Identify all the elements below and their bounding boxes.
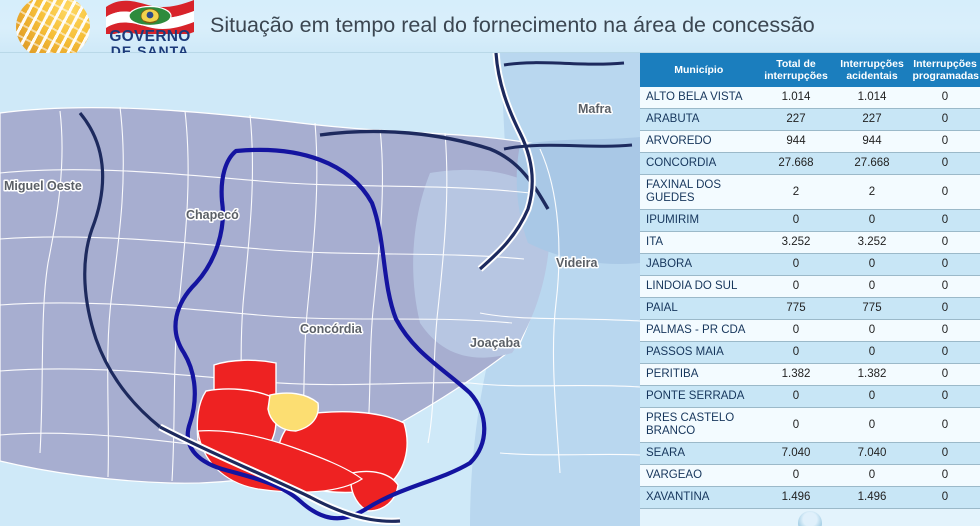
row-programadas: 0: [910, 487, 980, 509]
row-acidentais: 0: [834, 276, 910, 298]
table-row[interactable]: JABORA000: [640, 254, 980, 276]
column-header-municipio[interactable]: Município: [640, 53, 758, 87]
row-programadas: 0: [910, 276, 980, 298]
interruptions-table: Município Total de interrupções Interrup…: [640, 53, 980, 509]
row-total: 775: [758, 298, 834, 320]
row-acidentais: 775: [834, 298, 910, 320]
table-row[interactable]: VARGEAO000: [640, 465, 980, 487]
row-acidentais: 944: [834, 131, 910, 153]
row-total: 0: [758, 254, 834, 276]
row-acidentais: 0: [834, 254, 910, 276]
map-label-mafra: Mafra: [578, 102, 612, 116]
row-municipio: ITA: [640, 232, 758, 254]
row-acidentais: 0: [834, 342, 910, 364]
row-acidentais: 0: [834, 320, 910, 342]
row-total: 0: [758, 342, 834, 364]
governo-sc-logo: GOVERNO DE SANTA: [104, 0, 196, 54]
row-municipio: PASSOS MAIA: [640, 342, 758, 364]
row-acidentais: 0: [834, 386, 910, 408]
map-label-chapeco: Chapecó: [186, 208, 239, 222]
row-total: 7.040: [758, 443, 834, 465]
page-header: GOVERNO DE SANTA Situação em tempo real …: [0, 0, 980, 53]
row-total: 0: [758, 276, 834, 298]
row-programadas: 0: [910, 254, 980, 276]
row-acidentais: 0: [834, 408, 910, 443]
table-row[interactable]: ARABUTA2272270: [640, 109, 980, 131]
loading-spinner-icon: [798, 511, 822, 526]
row-municipio: FAXINAL DOS GUEDES: [640, 175, 758, 210]
row-municipio: VARGEAO: [640, 465, 758, 487]
row-programadas: 0: [910, 408, 980, 443]
row-municipio: PALMAS - PR CDA: [640, 320, 758, 342]
map-label-miguel-oeste: Miguel Oeste: [4, 179, 82, 193]
table-row[interactable]: SEARA7.0407.0400: [640, 443, 980, 465]
row-programadas: 0: [910, 386, 980, 408]
row-total: 0: [758, 320, 834, 342]
table-head: Município Total de interrupções Interrup…: [640, 53, 980, 87]
interruptions-panel[interactable]: Município Total de interrupções Interrup…: [640, 53, 980, 526]
map-label-joacaba: Joaçaba: [470, 336, 521, 350]
row-programadas: 0: [910, 232, 980, 254]
row-municipio: PONTE SERRADA: [640, 386, 758, 408]
row-programadas: 0: [910, 342, 980, 364]
column-header-programadas[interactable]: Interrupções programadas: [910, 53, 980, 87]
row-municipio: XAVANTINA: [640, 487, 758, 509]
row-programadas: 0: [910, 443, 980, 465]
row-programadas: 0: [910, 210, 980, 232]
row-total: 0: [758, 465, 834, 487]
app-root: GOVERNO DE SANTA Situação em tempo real …: [0, 0, 980, 526]
table-row[interactable]: PASSOS MAIA000: [640, 342, 980, 364]
table-row[interactable]: PALMAS - PR CDA000: [640, 320, 980, 342]
concession-area-map[interactable]: Miguel Oeste Chapecó Mafra Videira Concó…: [0, 53, 640, 526]
row-municipio: PERITIBA: [640, 364, 758, 386]
row-total: 227: [758, 109, 834, 131]
row-programadas: 0: [910, 87, 980, 109]
table-row[interactable]: ITA3.2523.2520: [640, 232, 980, 254]
map-land-north-east: [517, 137, 640, 264]
table-row[interactable]: PERITIBA1.3821.3820: [640, 364, 980, 386]
table-row[interactable]: ALTO BELA VISTA1.0141.0140: [640, 87, 980, 109]
row-municipio: PRES CASTELO BRANCO: [640, 408, 758, 443]
table-row[interactable]: CONCORDIA27.66827.6680: [640, 153, 980, 175]
row-programadas: 0: [910, 298, 980, 320]
table-row[interactable]: PAIAL7757750: [640, 298, 980, 320]
row-total: 0: [758, 386, 834, 408]
row-acidentais: 1.496: [834, 487, 910, 509]
row-programadas: 0: [910, 175, 980, 210]
table-header-row: Município Total de interrupções Interrup…: [640, 53, 980, 87]
row-municipio: CONCORDIA: [640, 153, 758, 175]
row-programadas: 0: [910, 131, 980, 153]
row-municipio: ARVOREDO: [640, 131, 758, 153]
row-total: 1.382: [758, 364, 834, 386]
table-row[interactable]: PRES CASTELO BRANCO000: [640, 408, 980, 443]
row-acidentais: 1.382: [834, 364, 910, 386]
row-municipio: PAIAL: [640, 298, 758, 320]
celesc-sun-logo: [16, 0, 90, 60]
row-total: 944: [758, 131, 834, 153]
row-programadas: 0: [910, 320, 980, 342]
row-acidentais: 27.668: [834, 153, 910, 175]
map-label-concordia: Concórdia: [300, 322, 363, 336]
row-acidentais: 7.040: [834, 443, 910, 465]
row-acidentais: 1.014: [834, 87, 910, 109]
table-row[interactable]: LINDOIA DO SUL000: [640, 276, 980, 298]
table-row[interactable]: FAXINAL DOS GUEDES220: [640, 175, 980, 210]
row-acidentais: 0: [834, 210, 910, 232]
row-total: 27.668: [758, 153, 834, 175]
row-programadas: 0: [910, 109, 980, 131]
row-acidentais: 227: [834, 109, 910, 131]
column-header-total[interactable]: Total de interrupções: [758, 53, 834, 87]
table-row[interactable]: ARVOREDO9449440: [640, 131, 980, 153]
row-municipio: JABORA: [640, 254, 758, 276]
row-programadas: 0: [910, 465, 980, 487]
map-label-videira: Videira: [556, 256, 599, 270]
row-programadas: 0: [910, 153, 980, 175]
row-municipio: SEARA: [640, 443, 758, 465]
row-total: 3.252: [758, 232, 834, 254]
page-title: Situação em tempo real do fornecimento n…: [210, 13, 815, 38]
row-acidentais: 2: [834, 175, 910, 210]
table-row[interactable]: XAVANTINA1.4961.4960: [640, 487, 980, 509]
row-total: 2: [758, 175, 834, 210]
row-municipio: LINDOIA DO SUL: [640, 276, 758, 298]
table-body: ALTO BELA VISTA1.0141.0140ARABUTA2272270…: [640, 87, 980, 509]
table-row[interactable]: PONTE SERRADA000: [640, 386, 980, 408]
row-municipio: IPUMIRIM: [640, 210, 758, 232]
row-programadas: 0: [910, 364, 980, 386]
map-svg[interactable]: Miguel Oeste Chapecó Mafra Videira Concó…: [0, 53, 640, 526]
row-acidentais: 3.252: [834, 232, 910, 254]
row-acidentais: 0: [834, 465, 910, 487]
row-municipio: ALTO BELA VISTA: [640, 87, 758, 109]
row-total: 1.496: [758, 487, 834, 509]
row-municipio: ARABUTA: [640, 109, 758, 131]
table-row[interactable]: IPUMIRIM000: [640, 210, 980, 232]
column-header-acidentais[interactable]: Interrupções acidentais: [834, 53, 910, 87]
row-total: 0: [758, 408, 834, 443]
row-total: 1.014: [758, 87, 834, 109]
row-total: 0: [758, 210, 834, 232]
